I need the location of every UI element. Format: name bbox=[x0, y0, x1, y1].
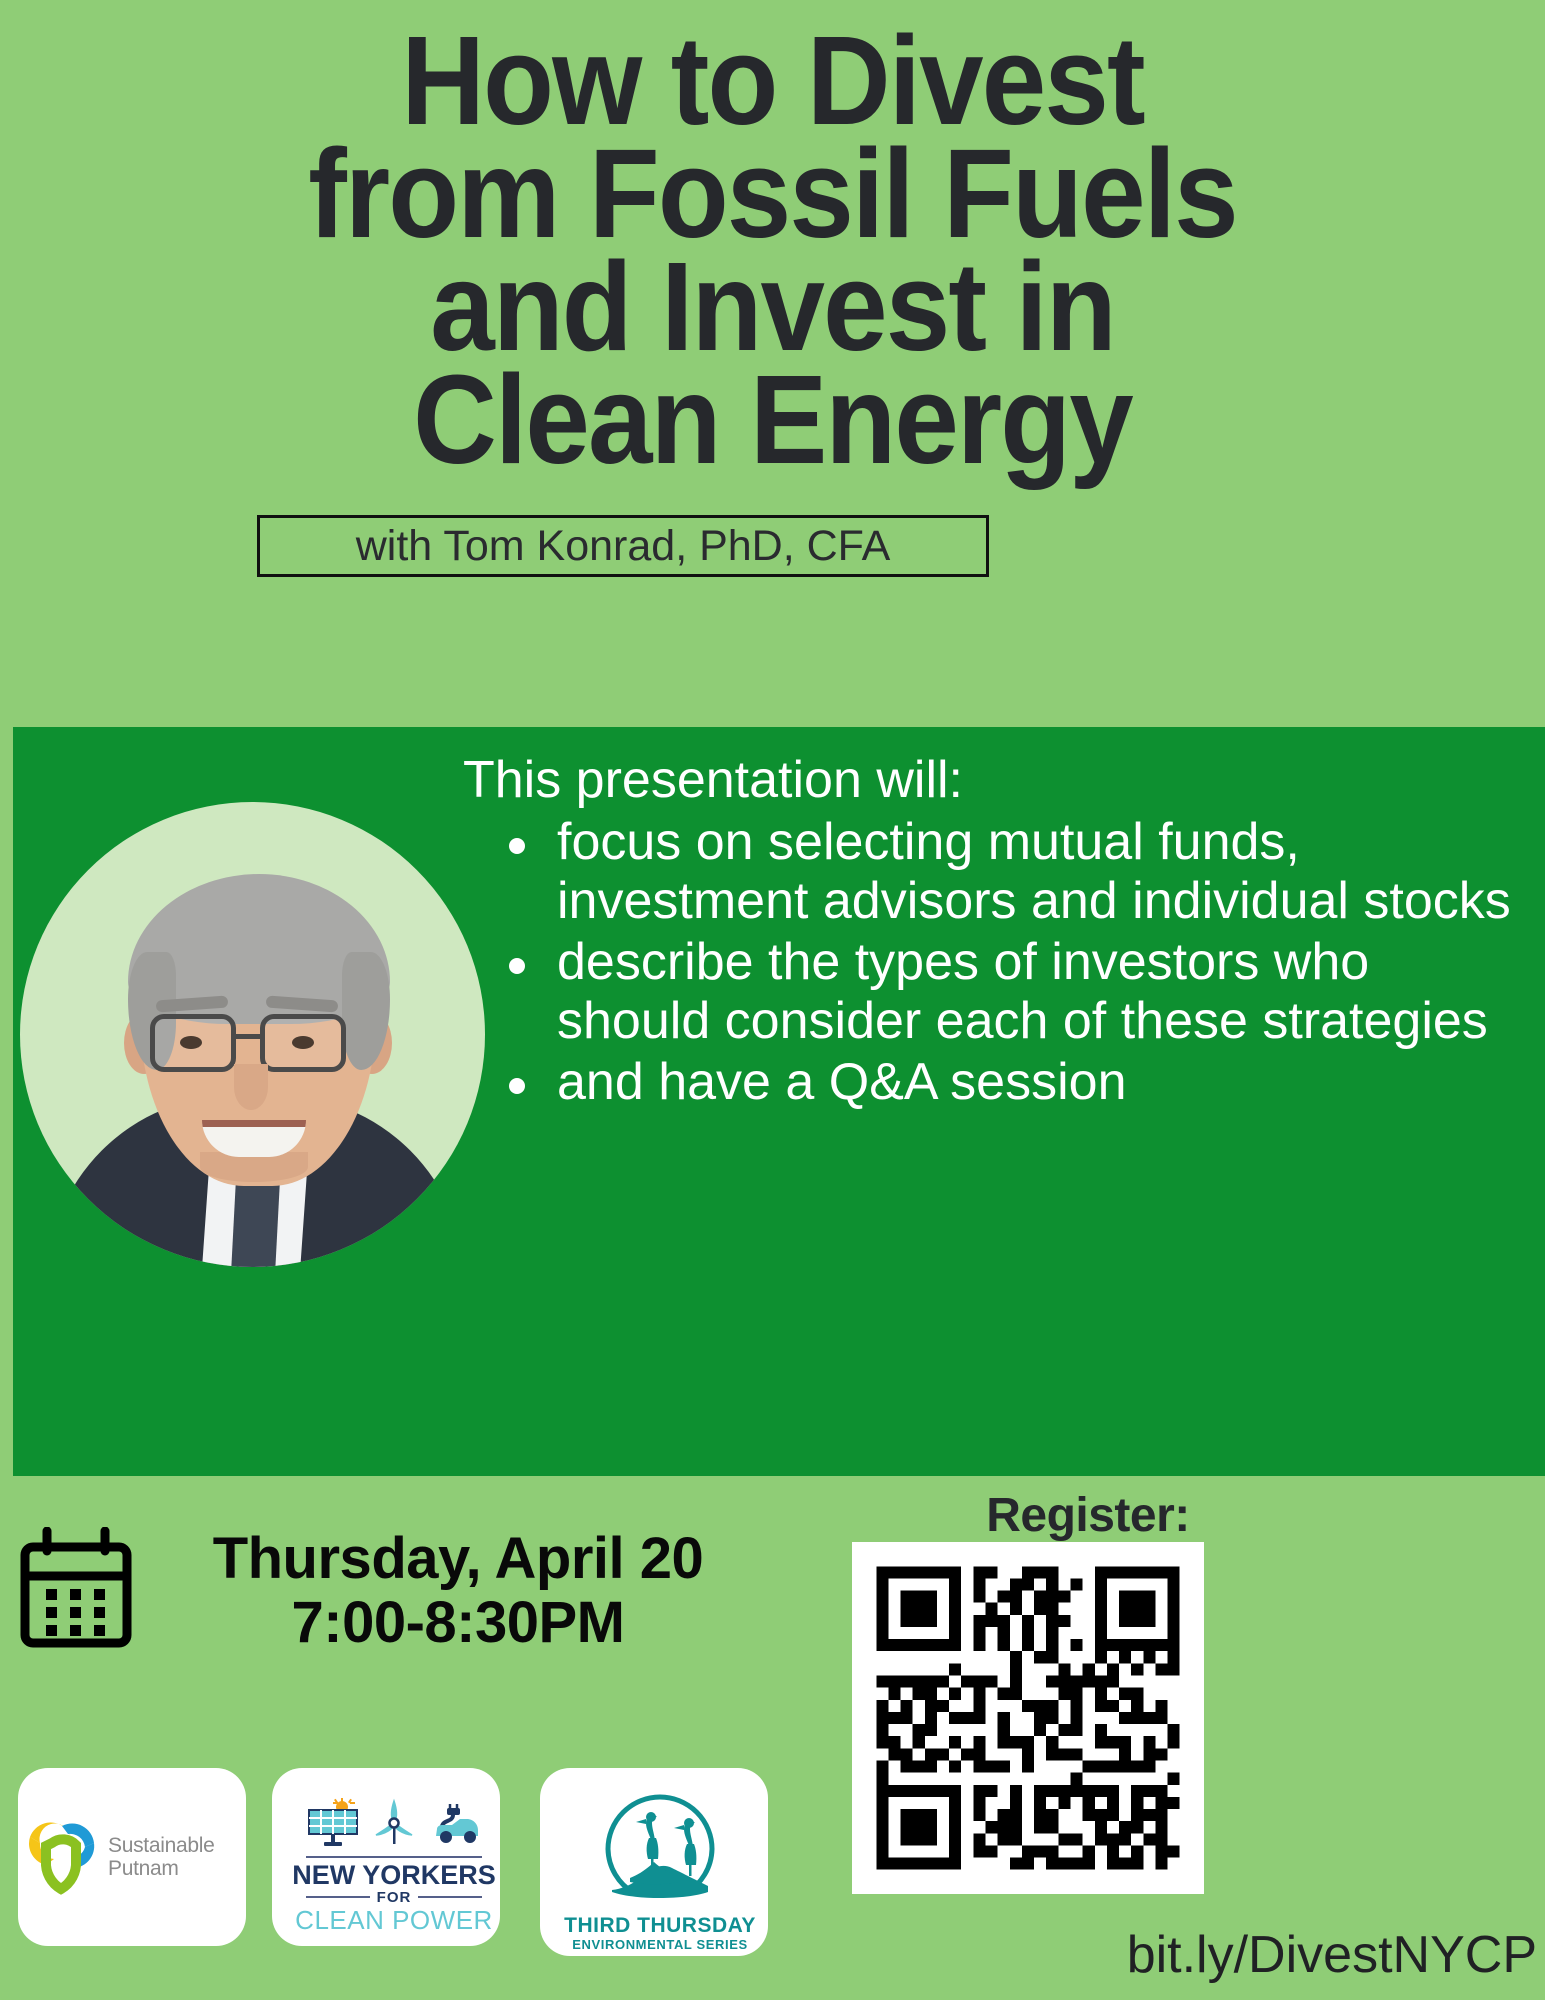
event-datetime-block: Thursday, April 20 7:00-8:30PM bbox=[0, 1508, 760, 1673]
title-line-1: How to Divest bbox=[62, 24, 1483, 137]
electric-car-icon bbox=[426, 1798, 482, 1853]
partner-logos: Sustainable Putnam bbox=[0, 1768, 840, 1978]
list-item: focus on selecting mutual funds, investm… bbox=[555, 813, 1521, 931]
nycp-line1: NEW YORKERS bbox=[292, 1861, 496, 1889]
event-datetime-text: Thursday, April 20 7:00-8:30PM bbox=[156, 1527, 760, 1655]
presentation-text: This presentation will: focus on selecti… bbox=[463, 749, 1521, 1114]
register-label: Register: bbox=[848, 1488, 1328, 1543]
new-yorkers-for-clean-power-logo: NEW YORKERS FOR CLEAN POWER bbox=[272, 1768, 500, 1946]
calendar-icon bbox=[18, 1527, 134, 1654]
sustainable-putnam-line2: Putnam bbox=[108, 1857, 246, 1880]
list-item: describe the types of investors who shou… bbox=[555, 933, 1521, 1051]
wind-turbine-icon bbox=[372, 1798, 416, 1853]
presentation-intro: This presentation will: bbox=[463, 749, 1521, 811]
third-thursday-environmental-series-logo: THIRD THURSDAY ENVIRONMENTAL SERIES bbox=[540, 1768, 768, 1956]
page-title: How to Divest from Fossil Fuels and Inve… bbox=[0, 24, 1545, 476]
nycp-line2: FOR bbox=[377, 1889, 412, 1906]
sustainable-putnam-logo: Sustainable Putnam bbox=[18, 1768, 246, 1946]
speaker-subtitle-text: with Tom Konrad, PhD, CFA bbox=[356, 522, 891, 571]
title-line-4: Clean Energy bbox=[62, 363, 1483, 476]
title-line-3: and Invest in bbox=[62, 250, 1483, 363]
presentation-details-panel: This presentation will: focus on selecti… bbox=[13, 727, 1545, 1476]
list-item: and have a Q&A session bbox=[555, 1053, 1521, 1112]
third-thursday-line2: ENVIRONMENTAL SERIES bbox=[572, 1937, 747, 1952]
sustainable-putnam-line1: Sustainable bbox=[108, 1834, 246, 1857]
event-date: Thursday, April 20 bbox=[156, 1527, 760, 1591]
heron-landscape-icon bbox=[594, 1792, 726, 1915]
solar-panel-icon bbox=[306, 1798, 362, 1853]
speaker-portrait bbox=[20, 802, 485, 1267]
trefoil-icon bbox=[24, 1813, 102, 1902]
title-line-2: from Fossil Fuels bbox=[62, 137, 1483, 250]
speaker-subtitle-box: with Tom Konrad, PhD, CFA bbox=[257, 515, 989, 577]
nycp-line3: CLEAN POWER bbox=[295, 1906, 493, 1934]
registration-qr-code[interactable] bbox=[852, 1542, 1204, 1894]
presentation-bullet-list: focus on selecting mutual funds, investm… bbox=[463, 813, 1521, 1112]
third-thursday-line1: THIRD THURSDAY bbox=[564, 1915, 756, 1937]
event-time: 7:00-8:30PM bbox=[156, 1591, 760, 1655]
